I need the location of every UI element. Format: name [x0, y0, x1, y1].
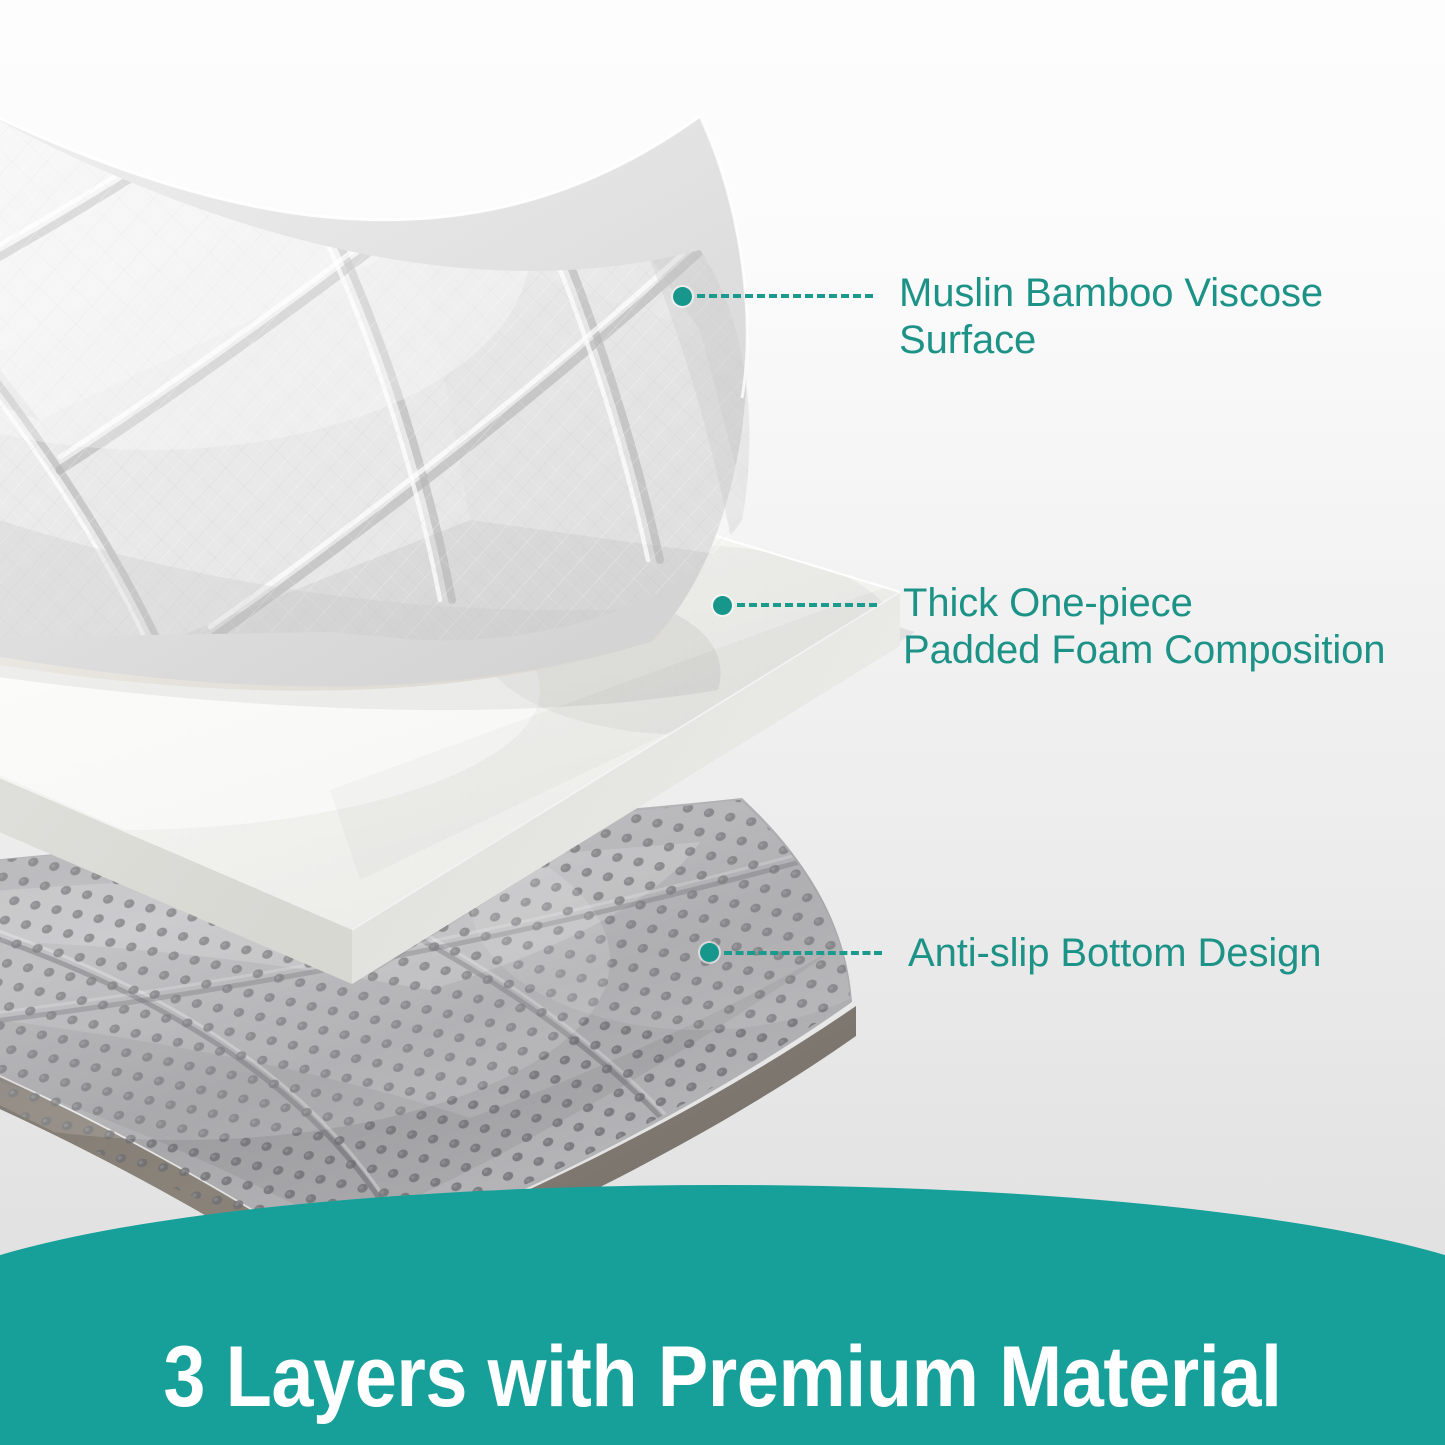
bottom-banner: 3 Layers with Premium Material: [0, 1185, 1445, 1445]
callout-anti-slip-bottom-design: Anti-slip Bottom Design: [700, 929, 1321, 976]
callout-connector-line: [737, 603, 877, 607]
callout-dot-icon: [713, 596, 732, 615]
callout-label-thick-one-piece-padded-foam-composition: Thick One-piece Padded Foam Composition: [903, 580, 1385, 674]
callout-thick-one-piece-padded-foam-composition: Thick One-piece Padded Foam Composition: [713, 558, 1385, 652]
callout-label-anti-slip-bottom-design: Anti-slip Bottom Design: [908, 930, 1321, 977]
callout-muslin-bamboo-viscose-surface: Muslin Bamboo Viscose Surface: [673, 250, 1323, 342]
product-infographic: Muslin Bamboo Viscose Surface Thick One-…: [0, 0, 1445, 1445]
callout-dot-icon: [673, 287, 692, 306]
callout-label-muslin-bamboo-viscose-surface: Muslin Bamboo Viscose Surface: [899, 270, 1323, 364]
banner-headline: 3 Layers with Premium Material: [0, 1328, 1445, 1427]
callout-connector-line: [697, 294, 873, 298]
callout-connector-line: [724, 951, 882, 955]
callout-dot-icon: [700, 943, 719, 962]
